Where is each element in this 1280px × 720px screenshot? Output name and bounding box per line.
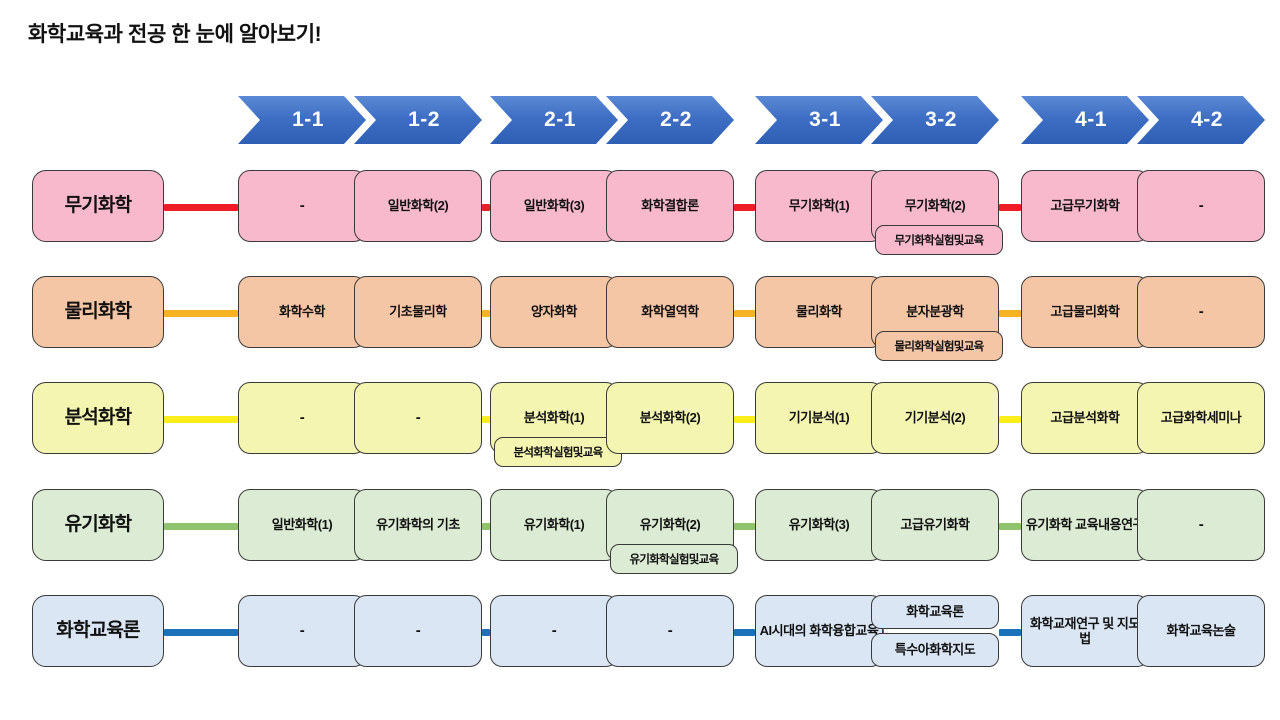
course-box[interactable]: 유기화학(1)	[490, 489, 618, 561]
course-box-empty[interactable]: -	[1137, 170, 1265, 242]
semester-chevron-row: 1-11-22-12-23-13-24-14-2	[0, 96, 1280, 144]
semester-chevron-label: 2-2	[660, 108, 692, 132]
course-box[interactable]: AI시대의 화학융합교육	[755, 595, 883, 667]
track-connector	[999, 204, 1021, 211]
track-row-분석화학: 분석화학--분석화학(1)분석화학실험및교육분석화학(2)기기분석(1)기기분석…	[0, 382, 1280, 486]
course-box[interactable]: 화학열역학	[606, 276, 734, 348]
course-box-empty[interactable]: -	[354, 595, 482, 667]
page-title: 화학교육과 전공 한 눈에 알아보기!	[28, 18, 321, 48]
track-connector	[999, 629, 1021, 636]
course-box[interactable]: 물리화학	[755, 276, 883, 348]
curriculum-diagram: 화학교육과 전공 한 눈에 알아보기! 1-11-22-12-23-13-24-…	[0, 0, 1280, 720]
course-box[interactable]: 화학교재연구 및 지도법	[1021, 595, 1149, 667]
track-label-분석화학[interactable]: 분석화학	[32, 382, 164, 454]
semester-chevron-label: 3-1	[809, 108, 841, 132]
course-box[interactable]: 기기분석(1)	[755, 382, 883, 454]
course-lab-subbox[interactable]: 유기화학실험및교육	[610, 544, 738, 574]
course-lab-subbox[interactable]: 무기화학실험및교육	[875, 225, 1003, 255]
track-connector	[734, 416, 755, 423]
track-connector	[999, 310, 1021, 317]
track-connector	[164, 204, 238, 211]
track-connector	[482, 416, 490, 423]
course-box[interactable]: 양자화학	[490, 276, 618, 348]
track-row-유기화학: 유기화학일반화학(1)유기화학의 기초유기화학(1)유기화학(2)유기화학실험및…	[0, 489, 1280, 593]
track-connector	[734, 629, 755, 636]
track-connector	[482, 204, 490, 211]
track-connector	[482, 523, 490, 530]
track-label-물리화학[interactable]: 물리화학	[32, 276, 164, 348]
semester-chevron-1-2: 1-2	[354, 96, 482, 144]
track-row-무기화학: 무기화학-일반화학(2)일반화학(3)화학결합론무기화학(1)무기화학(2)무기…	[0, 170, 1280, 274]
course-box-empty[interactable]: -	[238, 382, 366, 454]
track-connector	[164, 310, 238, 317]
course-box[interactable]: 유기화학 교육내용연구	[1021, 489, 1149, 561]
course-box[interactable]: 고급분석화학	[1021, 382, 1149, 454]
track-connector	[482, 629, 490, 636]
track-row-화학교육론: 화학교육론----AI시대의 화학융합교육화학교육론특수아화학지도화학교재연구 …	[0, 595, 1280, 699]
track-connector	[734, 523, 755, 530]
semester-chevron-4-1: 4-1	[1021, 96, 1149, 144]
track-connector	[734, 204, 755, 211]
semester-chevron-2-2: 2-2	[606, 96, 734, 144]
track-connector	[164, 523, 238, 530]
course-box[interactable]: 일반화학(3)	[490, 170, 618, 242]
course-lab-subbox[interactable]: 물리화학실험및교육	[875, 331, 1003, 361]
semester-chevron-label: 4-2	[1191, 108, 1223, 132]
course-box[interactable]: 유기화학(3)	[755, 489, 883, 561]
course-box[interactable]: 고급화학세미나	[1137, 382, 1265, 454]
semester-chevron-4-2: 4-2	[1137, 96, 1265, 144]
course-box[interactable]: 무기화학(1)	[755, 170, 883, 242]
course-lab-subbox[interactable]: 분석화학실험및교육	[494, 437, 622, 467]
course-box[interactable]: 화학교육논술	[1137, 595, 1265, 667]
course-box[interactable]: 기초물리학	[354, 276, 482, 348]
semester-chevron-label: 1-1	[292, 108, 324, 132]
course-box[interactable]: 일반화학(1)	[238, 489, 366, 561]
semester-chevron-label: 3-2	[925, 108, 957, 132]
track-connector	[999, 523, 1021, 530]
semester-chevron-2-1: 2-1	[490, 96, 618, 144]
track-label-유기화학[interactable]: 유기화학	[32, 489, 164, 561]
course-box[interactable]: 고급물리화학	[1021, 276, 1149, 348]
track-connector	[482, 310, 490, 317]
track-connector	[164, 416, 238, 423]
course-box[interactable]: 고급유기화학	[871, 489, 999, 561]
track-label-무기화학[interactable]: 무기화학	[32, 170, 164, 242]
track-row-물리화학: 물리화학화학수학기초물리학양자화학화학열역학물리화학분자분광학물리화학실험및교육…	[0, 276, 1280, 380]
semester-chevron-label: 2-1	[544, 108, 576, 132]
course-box[interactable]: 일반화학(2)	[354, 170, 482, 242]
course-box-empty[interactable]: -	[238, 595, 366, 667]
course-box-empty[interactable]: -	[1137, 276, 1265, 348]
course-box[interactable]: 기기분석(2)	[871, 382, 999, 454]
course-box[interactable]: 화학수학	[238, 276, 366, 348]
course-box[interactable]: 유기화학의 기초	[354, 489, 482, 561]
course-box-empty[interactable]: -	[1137, 489, 1265, 561]
course-box-empty[interactable]: -	[354, 382, 482, 454]
semester-chevron-label: 1-2	[408, 108, 440, 132]
course-box[interactable]: 분석화학(2)	[606, 382, 734, 454]
track-connector	[734, 310, 755, 317]
course-box-empty[interactable]: -	[238, 170, 366, 242]
semester-chevron-1-1: 1-1	[238, 96, 366, 144]
course-box-empty[interactable]: -	[606, 595, 734, 667]
semester-chevron-3-2: 3-2	[871, 96, 999, 144]
course-box[interactable]: 고급무기화학	[1021, 170, 1149, 242]
track-label-화학교육론[interactable]: 화학교육론	[32, 595, 164, 667]
semester-chevron-label: 4-1	[1075, 108, 1107, 132]
course-box-secondary[interactable]: 특수아화학지도	[871, 633, 999, 667]
track-connector	[999, 416, 1021, 423]
course-box-empty[interactable]: -	[490, 595, 618, 667]
track-connector	[164, 629, 238, 636]
course-box[interactable]: 화학교육론	[871, 595, 999, 629]
semester-chevron-3-1: 3-1	[755, 96, 883, 144]
course-box[interactable]: 화학결합론	[606, 170, 734, 242]
